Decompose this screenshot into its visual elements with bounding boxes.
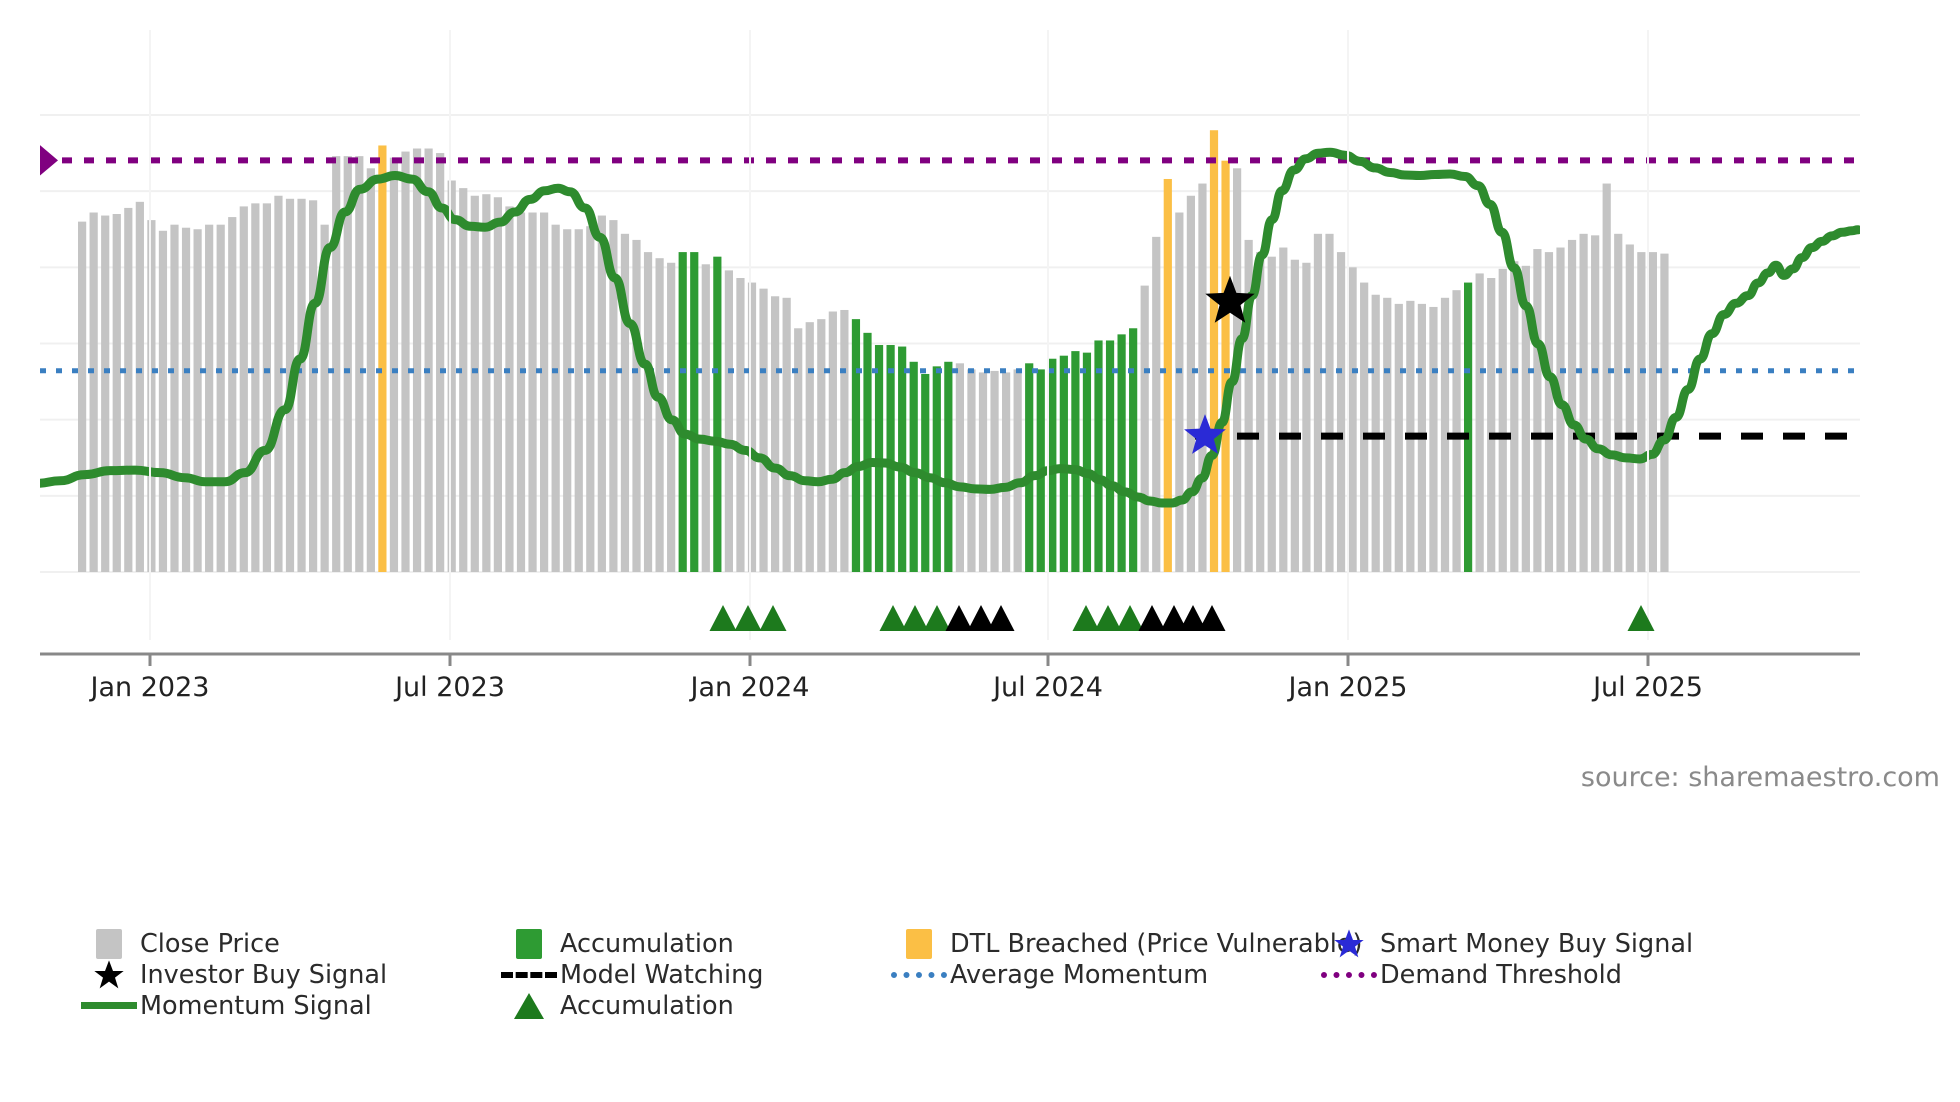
- close-price-bar[interactable]: [1591, 235, 1599, 572]
- legend-row-3: Momentum Signal Accumulation: [78, 990, 1928, 1021]
- close-price-bar[interactable]: [471, 196, 479, 572]
- close-price-bar[interactable]: [586, 226, 594, 572]
- close-price-bar[interactable]: [1071, 351, 1079, 572]
- close-price-bar[interactable]: [1325, 234, 1333, 572]
- close-price-bar[interactable]: [1302, 263, 1310, 572]
- legend-item-average-momentum[interactable]: Average Momentum: [888, 959, 1318, 990]
- close-price-bar[interactable]: [378, 145, 386, 572]
- x-tick-label: Jan 2024: [689, 672, 810, 703]
- close-price-bar[interactable]: [1014, 369, 1022, 572]
- legend-label: Smart Money Buy Signal: [1380, 929, 1693, 959]
- legend-item-demand-threshold[interactable]: Demand Threshold: [1318, 959, 1738, 990]
- close-price-bar[interactable]: [1210, 130, 1218, 572]
- accumulation-triangle-marker[interactable]: [946, 605, 973, 631]
- close-price-bar[interactable]: [1094, 340, 1102, 572]
- close-price-bar[interactable]: [459, 188, 467, 572]
- close-price-bar[interactable]: [1025, 363, 1033, 572]
- legend-label: Momentum Signal: [140, 991, 372, 1021]
- green-triangle-icon: [498, 991, 560, 1021]
- close-price-bar[interactable]: [632, 240, 640, 572]
- close-price-bar[interactable]: [806, 322, 814, 572]
- x-tick-label: Jul 2023: [393, 672, 505, 703]
- momentum-accumulation-chart[interactable]: 00.20.40.60.81 00.511.522.53 Jan 2023Jul…: [40, 30, 1860, 710]
- close-price-bar[interactable]: [494, 197, 502, 572]
- close-price-bar[interactable]: [101, 216, 109, 572]
- close-price-bar[interactable]: [736, 278, 744, 572]
- close-price-bar[interactable]: [540, 212, 548, 572]
- close-price-bar[interactable]: [1533, 249, 1541, 572]
- close-price-bar[interactable]: [840, 310, 848, 572]
- legend-item-dtl-breached[interactable]: DTL Breached (Price Vulnerable): [888, 928, 1318, 959]
- close-price-bar[interactable]: [898, 347, 906, 572]
- close-price-bar[interactable]: [355, 156, 363, 572]
- close-price-bar[interactable]: [829, 312, 837, 572]
- legend-label: Investor Buy Signal: [140, 960, 387, 990]
- close-price-bar[interactable]: [1060, 356, 1068, 572]
- accumulation-triangle-marker[interactable]: [924, 605, 951, 631]
- x-tick-label: Jul 2024: [991, 672, 1103, 703]
- accumulation-triangle-marker[interactable]: [988, 605, 1015, 631]
- close-price-bar[interactable]: [482, 194, 490, 572]
- chart-plot-area: 00.20.40.60.81 00.511.522.53 Jan 2023Jul…: [40, 30, 1860, 710]
- accumulation-swatch-icon: [498, 929, 560, 959]
- close-price-bar[interactable]: [517, 212, 525, 572]
- close-price-bar[interactable]: [713, 257, 721, 572]
- close-price-bar[interactable]: [217, 225, 225, 572]
- accumulation-triangle-marker[interactable]: [1628, 605, 1655, 631]
- close-price-bar[interactable]: [771, 296, 779, 572]
- legend-label: Model Watching: [560, 960, 764, 990]
- legend-item-close-price[interactable]: Close Price: [78, 928, 498, 959]
- close-price-bar[interactable]: [1660, 254, 1668, 572]
- close-price-bar[interactable]: [90, 212, 98, 572]
- close-price-bar[interactable]: [159, 231, 167, 572]
- close-price-bar[interactable]: [136, 202, 144, 572]
- close-price-bar[interactable]: [413, 149, 421, 572]
- close-price-bar[interactable]: [1152, 237, 1160, 572]
- close-price-bar[interactable]: [1452, 290, 1460, 572]
- legend-item-momentum-signal[interactable]: Momentum Signal: [78, 990, 498, 1021]
- accumulation-triangle-marker[interactable]: [902, 605, 929, 631]
- legend-label: Accumulation: [560, 929, 734, 959]
- close-price-bar[interactable]: [1129, 328, 1137, 572]
- close-price-bar[interactable]: [436, 153, 444, 572]
- dotted-line-icon: [888, 960, 950, 990]
- close-price-bar[interactable]: [1499, 269, 1507, 572]
- close-price-bar[interactable]: [528, 212, 536, 572]
- close-price-bar[interactable]: [425, 149, 433, 572]
- close-price-bar[interactable]: [1221, 161, 1229, 572]
- close-price-bar[interactable]: [1545, 252, 1553, 572]
- close-price-bar[interactable]: [1464, 283, 1472, 572]
- close-price-bar[interactable]: [1626, 244, 1634, 572]
- close-price-bar[interactable]: [979, 372, 987, 572]
- close-price-bar[interactable]: [390, 158, 398, 572]
- close-price-bar[interactable]: [1106, 340, 1114, 572]
- close-price-bar[interactable]: [1510, 261, 1518, 572]
- close-price-bar[interactable]: [182, 228, 190, 572]
- x-tick-label: Jul 2025: [1591, 672, 1703, 703]
- close-price-bar[interactable]: [1141, 286, 1149, 572]
- close-price-bar[interactable]: [194, 229, 202, 572]
- close-price-bar[interactable]: [367, 168, 375, 572]
- legend-label: Average Momentum: [950, 960, 1208, 990]
- close-price-bar[interactable]: [563, 229, 571, 572]
- x-tick-label: Jan 2025: [1287, 672, 1408, 703]
- accumulation-triangle-marker[interactable]: [880, 605, 907, 631]
- legend-item-model-watching[interactable]: Model Watching: [498, 959, 888, 990]
- legend-item-smart-money[interactable]: Smart Money Buy Signal: [1318, 928, 1738, 959]
- x-tick-label: Jan 2023: [89, 672, 210, 703]
- source-attribution: source: sharemaestro.com: [1581, 762, 1940, 793]
- close-price-bar[interactable]: [1580, 234, 1588, 572]
- close-price-bar[interactable]: [309, 200, 317, 572]
- close-price-bar[interactable]: [448, 181, 456, 572]
- legend-item-investor-buy[interactable]: Investor Buy Signal: [78, 959, 498, 990]
- close-price-bar[interactable]: [817, 319, 825, 572]
- close-price-bar[interactable]: [990, 371, 998, 572]
- close-price-bar[interactable]: [1268, 257, 1276, 572]
- close-price-bar[interactable]: [552, 225, 560, 572]
- legend-row-2: Investor Buy Signal Model Watching Avera…: [78, 959, 1928, 990]
- accumulation-triangle-marker[interactable]: [735, 605, 762, 631]
- close-price-bar[interactable]: [240, 206, 248, 572]
- close-price-bar[interactable]: [967, 369, 975, 572]
- close-price-bar[interactable]: [933, 366, 941, 572]
- close-price-bar[interactable]: [1649, 252, 1657, 572]
- chart-page: 00.20.40.60.81 00.511.522.53 Jan 2023Jul…: [0, 0, 1960, 1102]
- close-price-bar[interactable]: [1395, 304, 1403, 572]
- close-price-bar[interactable]: [1164, 179, 1172, 572]
- legend-label: Accumulation: [560, 991, 734, 1021]
- solid-line-icon: [78, 991, 140, 1021]
- close-price-bar[interactable]: [1487, 278, 1495, 572]
- demand-threshold-line: [40, 138, 1860, 182]
- legend-row-1: Close Price Accumulation DTL Breached (P…: [78, 928, 1928, 959]
- close-price-bar[interactable]: [1614, 234, 1622, 572]
- close-price-bar[interactable]: [251, 203, 259, 572]
- accumulation-triangle-marker[interactable]: [1095, 605, 1122, 631]
- blue-star-icon: [1318, 929, 1380, 959]
- close-price-bar[interactable]: [794, 328, 802, 572]
- close-price-bar[interactable]: [78, 222, 86, 572]
- accumulation-triangle-marker[interactable]: [710, 605, 737, 631]
- close-price-bar[interactable]: [1337, 252, 1345, 572]
- legend-label: DTL Breached (Price Vulnerable): [950, 929, 1363, 959]
- close-price-bar[interactable]: [1187, 196, 1195, 572]
- accumulation-triangle-marker[interactable]: [1139, 605, 1166, 631]
- close-price-bar[interactable]: [147, 220, 155, 572]
- accumulation-triangle-marker[interactable]: [1117, 605, 1144, 631]
- x-axis-ticks: Jan 2023Jul 2023Jan 2024Jul 2024Jan 2025…: [89, 30, 1703, 703]
- close-price-bar[interactable]: [1291, 260, 1299, 572]
- accumulation-triangle-marker[interactable]: [1073, 605, 1100, 631]
- close-price-bar[interactable]: [944, 362, 952, 572]
- close-price-bar[interactable]: [1175, 212, 1183, 572]
- close-price-swatch-icon: [78, 929, 140, 959]
- close-price-bar[interactable]: [1349, 267, 1357, 572]
- close-price-bar[interactable]: [1198, 184, 1206, 572]
- close-price-bar[interactable]: [598, 216, 606, 572]
- close-price-bar[interactable]: [263, 203, 271, 572]
- close-price-bar[interactable]: [170, 225, 178, 572]
- dtl-breached-swatch-icon: [888, 929, 950, 959]
- accumulation-triangle-marker[interactable]: [1199, 605, 1226, 631]
- close-price-bar[interactable]: [702, 264, 710, 572]
- close-price-bar[interactable]: [863, 333, 871, 572]
- close-price-bar[interactable]: [205, 225, 213, 572]
- close-price-bar[interactable]: [297, 199, 305, 572]
- legend-item-accumulation-bar[interactable]: Accumulation: [498, 928, 888, 959]
- close-price-bar[interactable]: [1314, 234, 1322, 572]
- close-price-bar[interactable]: [505, 206, 513, 572]
- legend-label: Demand Threshold: [1380, 960, 1622, 990]
- close-price-bar[interactable]: [228, 217, 236, 572]
- close-price-bar[interactable]: [575, 229, 583, 572]
- black-star-icon: [78, 960, 140, 990]
- close-price-bar[interactable]: [1637, 252, 1645, 572]
- close-price-bar[interactable]: [113, 214, 121, 572]
- legend-label: Close Price: [140, 929, 280, 959]
- close-price-bar[interactable]: [1429, 307, 1437, 572]
- accumulation-triangle-marker[interactable]: [760, 605, 787, 631]
- close-price-bar[interactable]: [1118, 334, 1126, 572]
- close-price-bars[interactable]: [78, 130, 1669, 572]
- close-price-bar[interactable]: [1603, 184, 1611, 572]
- demand-threshold-marker: [40, 138, 58, 182]
- close-price-bar[interactable]: [1083, 353, 1091, 572]
- close-price-bar[interactable]: [1279, 248, 1287, 572]
- chart-legend: Close Price Accumulation DTL Breached (P…: [78, 928, 1928, 1021]
- close-price-bar[interactable]: [274, 196, 282, 572]
- close-price-bar[interactable]: [887, 345, 895, 572]
- close-price-bar[interactable]: [956, 363, 964, 572]
- close-price-bar[interactable]: [1256, 252, 1264, 572]
- close-price-bar[interactable]: [124, 208, 132, 572]
- accumulation-triangle-markers[interactable]: [710, 605, 1655, 631]
- close-price-bar[interactable]: [1002, 372, 1010, 572]
- close-price-bar[interactable]: [644, 252, 652, 572]
- close-price-bar[interactable]: [679, 252, 687, 572]
- close-price-bar[interactable]: [783, 298, 791, 572]
- dotted-line-icon: [1318, 960, 1380, 990]
- close-price-bar[interactable]: [401, 152, 409, 572]
- legend-item-accumulation-triangle[interactable]: Accumulation: [498, 990, 888, 1021]
- close-price-bar[interactable]: [690, 252, 698, 572]
- close-price-bar[interactable]: [759, 289, 767, 572]
- dashed-line-icon: [498, 960, 560, 990]
- close-price-bar[interactable]: [1476, 273, 1484, 572]
- close-price-bar[interactable]: [1360, 283, 1368, 572]
- close-price-bar[interactable]: [852, 319, 860, 572]
- close-price-bar[interactable]: [725, 270, 733, 572]
